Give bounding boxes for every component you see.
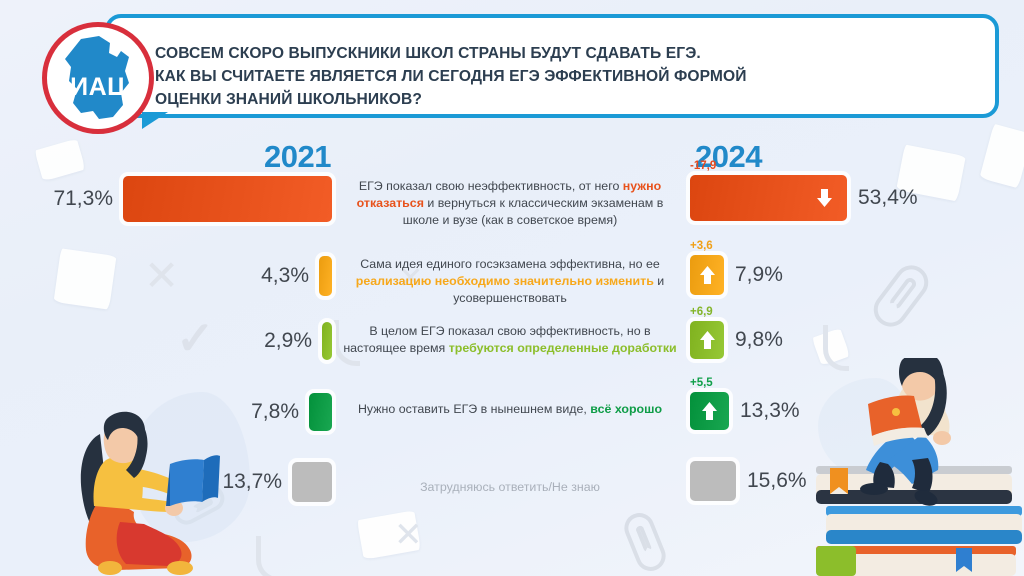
logo: ИАЦ	[42, 22, 154, 134]
column-header-2021: 2021	[264, 139, 331, 175]
bar-2024	[690, 255, 724, 295]
delta-value: +6,9	[690, 306, 783, 320]
row-2021-side: 2,9%	[0, 322, 332, 360]
page-title-line-1: СОВСЕМ СКОРО ВЫПУСКНИКИ ШКОЛ СТРАНЫ БУДУ…	[155, 42, 855, 65]
row-2024-side: +5,513,3%	[690, 377, 800, 430]
row-2021-side: 71,3%	[0, 176, 332, 222]
delta-value: +3,6	[690, 240, 783, 254]
bar-2024	[690, 321, 724, 359]
paperclip-icon	[620, 509, 670, 576]
girl-reading-illustration	[48, 398, 233, 576]
answer-option-label: Затрудняюсь ответить/Не знаю	[340, 479, 680, 496]
value-2024: 53,4%	[858, 186, 918, 210]
delta-value: +5,5	[690, 377, 800, 391]
answer-option-label: Сама идея единого госэкзамена эффективна…	[340, 256, 680, 307]
answer-option-label: Нужно оставить ЕГЭ в нынешнем виде, всё …	[340, 401, 680, 418]
bar-2024	[690, 392, 729, 430]
page-title-line-3: ОЦЕНКИ ЗНАНИЙ ШКОЛЬНИКОВ?	[155, 88, 855, 111]
logo-text: ИАЦ	[47, 73, 149, 102]
arrow-down-icon	[816, 188, 833, 208]
bar-2021	[292, 462, 332, 502]
page-title-line-2: КАК ВЫ СЧИТАЕТЕ ЯВЛЯЕТСЯ ЛИ СЕГОДНЯ ЕГЭ …	[155, 65, 855, 88]
row-2024-side: 15,6%	[690, 446, 807, 501]
value-2024: 15,6%	[747, 469, 807, 493]
bar-2021	[309, 393, 332, 431]
infographic-canvas: ✕ ✕ ✕ ✓ СОВСЕМ СКОРО ВЫПУСКНИКИ ШКОЛ СТР…	[0, 0, 1024, 576]
value-2024: 9,8%	[735, 328, 783, 352]
bar-2021	[319, 256, 332, 296]
row-2021-side: 4,3%	[0, 256, 332, 296]
arrow-up-icon	[701, 401, 718, 421]
bar-2021	[322, 322, 332, 360]
value-2024: 13,3%	[740, 399, 800, 423]
row-2024-side: -17,953,4%	[690, 160, 918, 221]
answer-option-label: ЕГЭ показал свою неэффективность, от нег…	[340, 178, 680, 229]
value-2021: 7,8%	[251, 400, 299, 424]
row-2024-side: +3,67,9%	[690, 240, 783, 295]
bar-2021	[123, 176, 332, 222]
value-2024: 7,9%	[735, 263, 783, 287]
paper-decor	[979, 124, 1024, 188]
row-2024-side: +6,99,8%	[690, 306, 783, 359]
hook-doodle-icon	[256, 536, 282, 576]
delta-value: -17,9	[690, 160, 918, 174]
girl-with-laptop-illustration	[816, 358, 1024, 576]
paper-decor	[357, 510, 421, 559]
bar-2024	[690, 461, 736, 501]
bar-2024	[690, 175, 847, 221]
page-title: СОВСЕМ СКОРО ВЫПУСКНИКИ ШКОЛ СТРАНЫ БУДУ…	[155, 42, 855, 111]
paperclip-icon	[867, 259, 935, 334]
paper-decor	[34, 139, 85, 182]
arrow-up-icon	[699, 330, 716, 350]
value-2021: 4,3%	[261, 264, 309, 288]
answer-option-label: В целом ЕГЭ показал свою эффективность, …	[340, 323, 680, 357]
value-2021: 71,3%	[53, 187, 113, 211]
arrow-up-icon	[699, 265, 716, 285]
cross-doodle-icon: ✕	[394, 518, 423, 552]
value-2021: 2,9%	[264, 329, 312, 353]
